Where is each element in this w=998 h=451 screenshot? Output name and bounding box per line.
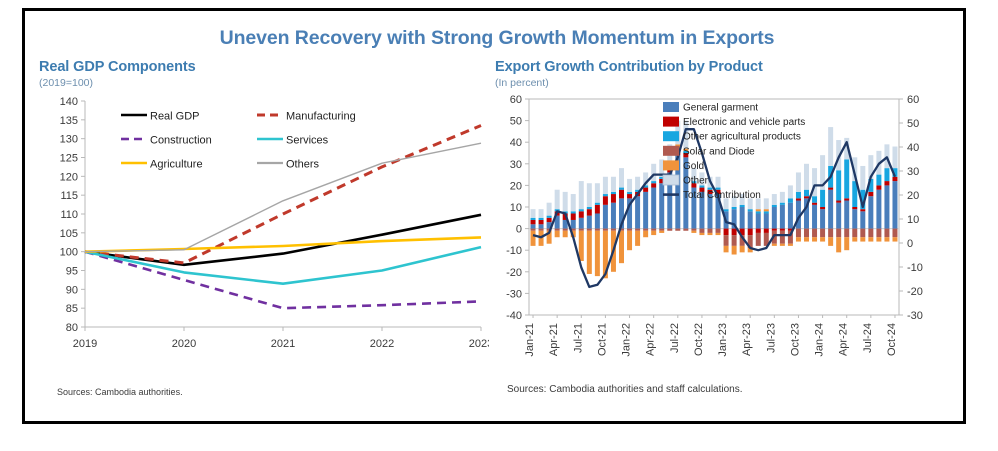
bar-segment [611,194,616,203]
x-tick-label: Oct-24 [886,323,898,356]
bar-segment [892,237,897,241]
bar-segment [732,207,737,209]
bar-segment [780,229,785,231]
x-tick-label: Apr-22 [645,323,657,356]
bar-segment [828,190,833,229]
bar-segment [531,209,536,218]
bar-segment [772,244,777,246]
x-tick-label: Apr-24 [838,323,850,356]
right-panel-title: Export Growth Contribution by Product [495,59,955,75]
bar-segment [740,207,745,229]
legend-swatch-other-agricultural-products [663,131,679,141]
bar-segment [539,209,544,218]
bar-segment [836,237,841,252]
line-manufacturing [85,126,481,264]
bar-segment [531,218,536,220]
legend-label-real-gdp: Real GDP [150,111,200,123]
bar-segment [651,164,656,181]
bar-segment [788,198,793,202]
bar-segment [892,147,897,169]
svg-text:110: 110 [60,209,78,221]
bar-segment [603,177,608,194]
bar-segment [756,211,761,213]
bar-segment [627,231,632,250]
bar-segment [563,192,568,211]
bar-segment [691,229,696,231]
bar-segment [828,127,833,166]
right-panel-subtitle: (In percent) [495,77,955,89]
left-panel-title: Real GDP Components [39,59,489,75]
bar-segment [587,209,592,215]
svg-text:120: 120 [60,171,78,183]
bar-segment [836,203,841,229]
bar-segment [812,237,817,241]
legend-label-other: Other [683,176,709,187]
bar-segment [780,244,785,246]
bar-segment [796,198,801,200]
bar-segment [707,233,712,235]
bar-segment [571,211,576,213]
legend-label-others: Others [286,159,320,171]
legend-label-construction: Construction [150,135,212,147]
bar-segment [659,231,664,233]
bar-segment [659,229,664,231]
legend-label-total-contribution: Total Contribution [683,190,761,201]
bar-segment [651,183,656,187]
bar-segment [611,229,616,231]
bar-segment [555,190,560,209]
bar-segment [547,216,552,218]
bar-segment [555,229,560,231]
bar-segment [788,244,793,246]
bar-segment [780,203,785,205]
bar-segment [812,203,817,205]
bar-segment [756,213,761,228]
bar-segment [852,229,857,238]
bar-segment [836,229,841,238]
bar-segment [844,237,849,250]
bar-segment [876,229,881,238]
figure-root: Uneven Recovery with Strong Growth Momen… [0,0,998,451]
svg-text:-10: -10 [907,262,923,274]
x-tick-label: Jul-23 [765,323,777,353]
bar-segment [748,211,753,228]
bar-segment [555,231,560,237]
svg-text:95: 95 [66,266,78,278]
x-tick-label: Apr-21 [548,323,560,356]
svg-text:100: 100 [60,247,78,259]
bar-segment [611,203,616,229]
bar-segment [860,209,865,211]
bar-segment [595,229,600,231]
bar-segment [756,209,761,211]
bar-segment [860,211,865,228]
bar-segment [852,207,857,209]
legend-label-manufacturing: Manufacturing [286,111,356,123]
bar-segment [820,209,825,228]
x-tick-label: Jan-23 [717,323,729,357]
bar-segment [539,220,544,224]
bar-segment [603,196,608,205]
bar-segment [772,229,777,231]
bar-segment [563,231,568,237]
bar-segment [643,229,648,231]
bar-segment [699,233,704,235]
svg-text:105: 105 [60,228,78,240]
svg-text:-30: -30 [506,288,522,300]
bar-segment [868,237,873,241]
bar-segment [603,194,608,196]
line-others [85,143,481,252]
figure-frame: Uneven Recovery with Strong Growth Momen… [22,8,966,424]
bar-segment [579,211,584,217]
svg-text:60: 60 [510,94,522,106]
bar-segment [820,190,825,207]
bar-segment [796,237,801,241]
bar-segment [788,203,793,229]
bar-segment [860,229,865,238]
legend-label-services: Services [286,135,329,147]
bar-segment [699,229,704,233]
bar-segment [804,196,809,198]
bar-segment [675,229,680,231]
bar-segment [884,229,889,238]
bar-segment [587,231,592,274]
svg-text:0: 0 [907,238,913,250]
bar-segment [603,205,608,229]
left-panel-subtitle: (2019=100) [39,77,489,89]
bar-segment [764,229,769,233]
svg-text:2023: 2023 [469,338,489,350]
bar-segment [884,168,889,181]
svg-text:140: 140 [60,96,78,108]
bar-segment [563,229,568,231]
svg-text:-30: -30 [907,310,923,322]
x-tick-label: Jul-24 [862,323,874,353]
bar-segment [812,229,817,238]
bar-segment [868,192,873,196]
svg-text:2019: 2019 [73,338,97,350]
bar-segment [772,207,777,229]
bar-segment [627,179,632,192]
bar-segment [860,166,865,190]
bar-segment [884,181,889,185]
bar-segment [587,216,592,229]
svg-text:20: 20 [510,180,522,192]
bar-segment [820,207,825,209]
bar-segment [627,194,632,198]
bar-segment [796,172,801,191]
right-panel-source: Sources: Cambodia authorities and staff … [507,384,955,395]
bar-segment [876,185,881,189]
right-panel: Export Growth Contribution by Product (I… [495,59,955,419]
bar-segment [732,235,737,246]
bar-segment [756,229,761,233]
svg-text:-10: -10 [506,245,522,257]
bar-segment [579,229,584,231]
bar-segment [892,181,897,229]
bar-segment [828,237,833,246]
legend-label-other-agricultural-products: Other agricultural products [683,132,801,143]
bar-segment [643,231,648,237]
bar-segment [780,231,785,244]
bar-segment [724,209,729,211]
legend-label-general-garment: General garment [683,103,758,114]
svg-text:130: 130 [60,134,78,146]
bar-segment [724,229,729,235]
bar-segment [804,237,809,241]
bar-segment [844,159,849,198]
bar-segment [619,190,624,199]
bar-segment [812,205,817,229]
legend-label-gold: Gold [683,161,704,172]
bar-segment [828,229,833,238]
bar-segment [892,177,897,181]
bar-segment [740,205,745,207]
bar-segment [756,233,761,246]
bar-segment [587,183,592,207]
left-chart: 8085909510010511011512012513013514020192… [39,93,489,383]
bar-segment [748,209,753,211]
svg-text:0: 0 [516,224,522,236]
svg-text:90: 90 [66,284,78,296]
legend-swatch-solar-and-diode [663,146,679,156]
bar-segment [724,235,729,246]
bar-segment [804,229,809,238]
bar-segment [651,188,656,229]
bar-segment [611,192,616,194]
svg-text:20: 20 [907,190,919,202]
svg-text:40: 40 [907,142,919,154]
bar-segment [820,229,825,238]
bar-segment [619,168,624,187]
x-tick-label: Jul-22 [669,323,681,353]
bar-segment [868,196,873,228]
bar-segment [643,192,648,229]
svg-text:2022: 2022 [370,338,394,350]
svg-text:10: 10 [907,214,919,226]
bar-segment [579,181,584,209]
bar-segment [635,231,640,246]
bar-segment [627,192,632,194]
bar-segment [595,213,600,228]
bar-segment [860,237,865,241]
bar-segment [651,181,656,183]
left-panel-source: Sources: Cambodia authorities. [57,387,489,397]
bar-segment [611,177,616,192]
svg-text:125: 125 [60,153,78,165]
svg-text:2021: 2021 [271,338,295,350]
svg-text:10: 10 [510,202,522,214]
bar-segment [780,205,785,229]
svg-text:50: 50 [907,118,919,130]
bar-segment [828,188,833,190]
bar-segment [820,237,825,241]
svg-text:135: 135 [60,115,78,127]
bar-segment [643,188,648,192]
bar-segment [804,190,809,196]
bar-segment [595,231,600,276]
svg-text:-20: -20 [907,286,923,298]
bar-segment [716,177,721,188]
svg-text:60: 60 [907,94,919,106]
x-tick-label: Jul-21 [572,323,584,353]
bar-segment [804,164,809,190]
bar-segment [772,205,777,207]
bar-segment [619,231,624,263]
x-tick-label: Jan-24 [814,323,826,357]
legend-swatch-general-garment [663,102,679,112]
svg-text:-20: -20 [506,267,522,279]
left-panel: Real GDP Components (2019=100) 808590951… [39,59,489,419]
bar-segment [635,196,640,228]
bar-segment [764,198,769,209]
figure-title: Uneven Recovery with Strong Growth Momen… [25,27,969,50]
bar-segment [876,175,881,186]
bar-segment [732,229,737,235]
bar-segment [571,220,576,229]
legend-swatch-other [663,175,679,185]
bar-segment [691,231,696,233]
bar-segment [667,229,672,231]
bar-segment [531,229,536,231]
bar-segment [836,201,841,203]
bar-segment [812,196,817,202]
bar-segment [547,218,552,222]
svg-text:2020: 2020 [172,338,196,350]
bar-segment [571,213,576,219]
bar-segment [595,203,600,205]
bar-segment [579,218,584,229]
legend-label-agriculture: Agriculture [150,159,203,171]
svg-text:50: 50 [510,116,522,128]
bar-segment [651,229,656,231]
bar-segment [531,224,536,228]
svg-text:30: 30 [907,166,919,178]
svg-text:115: 115 [60,190,78,202]
bar-segment [772,194,777,205]
bar-segment [683,229,688,231]
bar-segment [635,229,640,231]
bar-segment [531,231,536,246]
bar-segment [587,229,592,231]
bar-segment [836,170,841,200]
bar-segment [884,185,889,228]
svg-text:85: 85 [66,303,78,315]
bar-segment [539,229,544,231]
bar-segment [587,207,592,209]
svg-text:30: 30 [510,159,522,171]
bar-segment [635,177,640,190]
x-tick-label: Jan-22 [621,323,633,357]
bar-segment [619,188,624,190]
legend-swatch-gold [663,160,679,170]
bar-segment [539,218,544,220]
svg-text:40: 40 [510,137,522,149]
bar-segment [707,229,712,233]
bar-segment [740,246,745,252]
legend-label-solar-and-diode: Solar and Diode [683,146,755,157]
legend-swatch-electronic-and-vehicle-parts [663,117,679,127]
bar-segment [748,229,753,235]
bar-segment [892,229,897,238]
bar-segment [764,209,769,211]
x-tick-label: Oct-23 [790,323,802,356]
right-chart-svg: -40-30-20-100102030405060-30-20-10010203… [495,93,955,378]
bar-segment [627,229,632,231]
x-tick-label: Oct-22 [693,323,705,356]
bar-segment [659,183,664,228]
bar-segment [595,205,600,214]
left-chart-svg: 8085909510010511011512012513013514020192… [39,93,489,383]
bar-segment [764,211,769,213]
bar-segment [732,246,737,255]
bar-segment [716,233,721,235]
legend-label-electronic-and-vehicle-parts: Electronic and vehicle parts [683,117,805,128]
svg-text:80: 80 [66,322,78,334]
line-agriculture [85,237,481,251]
bar-segment [579,209,584,211]
bar-segment [796,192,801,198]
bar-segment [724,246,729,252]
bar-segment [716,229,721,233]
bar-segment [788,185,793,198]
right-chart: -40-30-20-100102030405060-30-20-10010203… [495,93,955,378]
bar-segment [844,198,849,200]
bar-segment [884,237,889,241]
bar-segment [868,229,873,238]
bar-segment [876,237,881,241]
bar-segment [595,183,600,202]
svg-text:-40: -40 [506,310,522,322]
bar-segment [539,224,544,228]
bar-segment [844,201,849,229]
bar-segment [603,229,608,231]
bar-segment [651,231,656,235]
bar-segment [531,220,536,224]
bar-segment [852,209,857,228]
x-tick-label: Oct-21 [596,323,608,356]
bar-segment [571,194,576,211]
bar-segment [764,213,769,228]
x-tick-label: Apr-23 [741,323,753,356]
bar-segment [844,229,849,238]
bar-segment [796,229,801,238]
bar-segment [852,237,857,241]
bar-segment [780,192,785,203]
x-tick-label: Jan-21 [524,323,536,357]
bar-segment [876,190,881,229]
bar-segment [547,203,552,216]
